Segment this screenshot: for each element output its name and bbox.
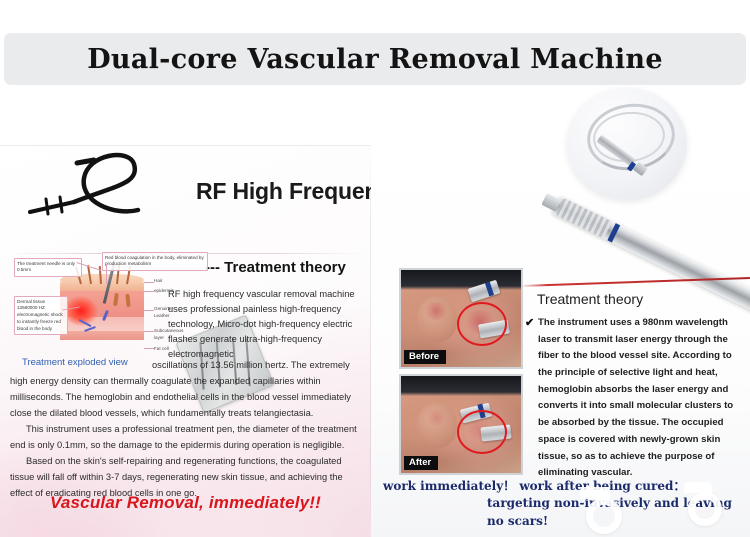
callout-dermal-tissue: Dermal tissue 13560000 HZ electromagneti… — [14, 296, 68, 335]
caster-watermark-stem — [684, 482, 712, 493]
layer-epidermis — [60, 282, 144, 291]
after-photo: After — [399, 374, 523, 475]
checkmark-icon: ✔ — [525, 316, 534, 329]
label-fat-cell: Fat cell — [154, 346, 169, 353]
infographic-page: Dual-core Vascular Removal Machine RF Hi… — [0, 0, 750, 537]
right-panel-heading: Treatment theory — [537, 291, 643, 307]
rf-pen-cable-svg — [22, 150, 212, 250]
callout-treatment-needle: The treatment needle is only 0.5mm — [14, 258, 82, 277]
right-tagline-line1: work immediately！ work after being cured… — [383, 479, 685, 493]
label-tick — [144, 331, 154, 332]
before-label: Before — [404, 350, 446, 365]
vascular-lesion — [425, 410, 447, 426]
callout-leader-line — [106, 264, 107, 284]
left-paragraph-continued: oscillations of 13.56 million hertz. The… — [10, 358, 366, 422]
rf-treatment-pen-image — [22, 150, 212, 250]
skin-layers — [60, 282, 144, 340]
label-tick — [144, 310, 154, 311]
title-banner: Dual-core Vascular Removal Machine — [4, 33, 746, 85]
annotation-circle — [457, 302, 507, 346]
caster-watermark-stem — [580, 487, 610, 499]
callout-red-blood-coagulation: Red blood coagulation in the body, elimi… — [102, 252, 208, 271]
left-panel-subheading: --- Treatment theory — [205, 259, 346, 276]
after-label: After — [404, 456, 438, 471]
caster-watermark — [586, 498, 622, 534]
fiber-optic-coil-image — [567, 88, 687, 200]
panel-divider — [370, 150, 371, 530]
left-paragraph-2: This instrument uses a professional trea… — [10, 422, 366, 454]
left-paragraph-intro: RF high frequency vascular removal machi… — [168, 287, 364, 362]
label-hair: Hair — [154, 278, 162, 285]
label-tick — [144, 348, 154, 349]
vascular-lesion — [423, 302, 449, 320]
caster-watermark — [688, 492, 722, 526]
label-tick — [144, 282, 154, 283]
label-tick — [144, 291, 154, 292]
layer-fat — [60, 331, 144, 340]
photo-shadow-band — [401, 376, 521, 396]
annotation-circle — [457, 410, 507, 454]
left-panel-top-edge — [0, 145, 371, 146]
page-title: Dual-core Vascular Removal Machine — [4, 33, 746, 85]
right-panel-body: The instrument uses a 980nm wavelength l… — [538, 315, 743, 482]
left-paragraph-block: oscillations of 13.56 million hertz. The… — [10, 358, 366, 502]
before-photo: Before — [399, 268, 523, 369]
left-tagline: Vascular Removal, immediately!! — [0, 493, 371, 513]
photo-shadow-band — [401, 270, 521, 290]
